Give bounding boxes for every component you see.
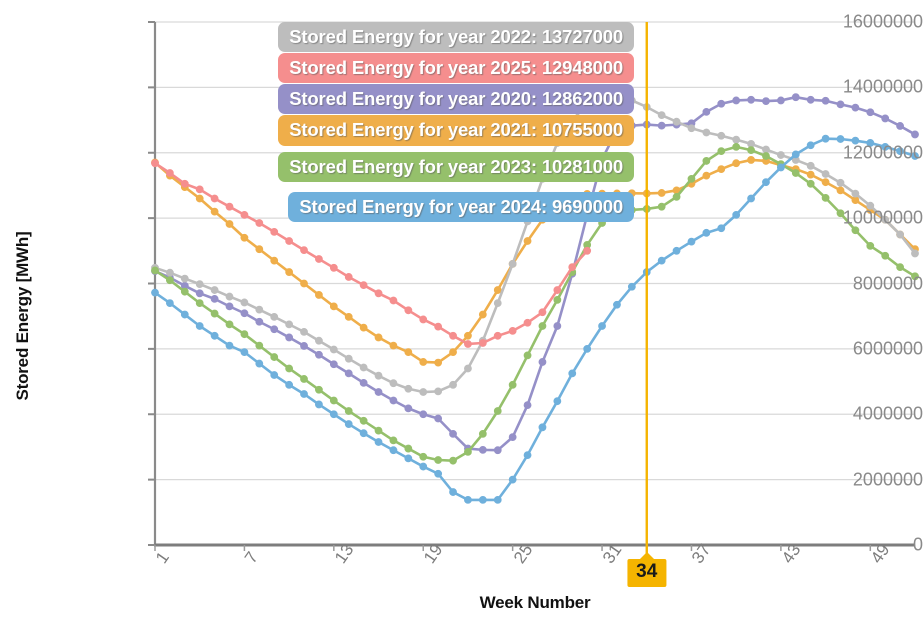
data-point (315, 351, 322, 358)
data-point (688, 175, 695, 182)
data-point (494, 447, 501, 454)
data-point (405, 445, 412, 452)
data-point (584, 345, 591, 352)
x-axis-title: Week Number (155, 593, 915, 613)
data-point (315, 386, 322, 393)
data-point (300, 342, 307, 349)
data-point (584, 247, 591, 254)
data-point (673, 247, 680, 254)
data-point (345, 407, 352, 414)
data-point (822, 170, 829, 177)
data-point (882, 115, 889, 122)
data-point (747, 96, 754, 103)
data-point (256, 246, 263, 253)
data-point (613, 301, 620, 308)
data-point (733, 211, 740, 218)
cursor-week-badge[interactable]: 34 (627, 559, 666, 587)
data-point (181, 288, 188, 295)
data-point (449, 381, 456, 388)
data-point (718, 100, 725, 107)
data-point (271, 353, 278, 360)
data-point (166, 269, 173, 276)
data-point (658, 257, 665, 264)
data-point (449, 430, 456, 437)
data-point (494, 332, 501, 339)
data-point (658, 203, 665, 210)
data-point (360, 282, 367, 289)
data-point (271, 371, 278, 378)
data-point (256, 318, 263, 325)
data-point (226, 293, 233, 300)
data-point (569, 264, 576, 271)
data-point (911, 131, 918, 138)
data-point (882, 252, 889, 259)
data-point (703, 129, 710, 136)
data-point (435, 323, 442, 330)
data-point (673, 193, 680, 200)
data-point (390, 342, 397, 349)
data-point (196, 281, 203, 288)
data-point (271, 257, 278, 264)
data-point (554, 286, 561, 293)
data-point (390, 380, 397, 387)
data-point (658, 122, 665, 129)
tooltip-2025: Stored Energy for year 2025: 12948000 (278, 53, 634, 83)
data-point (286, 381, 293, 388)
data-point (226, 303, 233, 310)
data-point (211, 310, 218, 317)
data-point (390, 447, 397, 454)
data-point (375, 290, 382, 297)
data-point (420, 411, 427, 418)
data-point (539, 424, 546, 431)
data-point (509, 476, 516, 483)
data-point (747, 156, 754, 163)
data-point (747, 147, 754, 154)
tooltip-2024: Stored Energy for year 2024: 9690000 (288, 192, 634, 222)
data-point (241, 310, 248, 317)
data-point (241, 234, 248, 241)
data-point (435, 456, 442, 463)
data-point (479, 311, 486, 318)
data-point (196, 300, 203, 307)
data-point (345, 273, 352, 280)
data-point (330, 397, 337, 404)
data-point (405, 349, 412, 356)
data-point (658, 189, 665, 196)
data-point (181, 275, 188, 282)
data-point (435, 415, 442, 422)
data-point (286, 237, 293, 244)
data-point (703, 108, 710, 115)
data-point (792, 169, 799, 176)
data-point (360, 430, 367, 437)
data-point (479, 430, 486, 437)
data-point (435, 388, 442, 395)
data-point (852, 190, 859, 197)
data-point (390, 397, 397, 404)
data-point (494, 286, 501, 293)
data-point (286, 321, 293, 328)
data-point (479, 446, 486, 453)
y-tick-label: 10000000 (778, 208, 923, 229)
data-point (777, 97, 784, 104)
data-point (271, 228, 278, 235)
data-point (628, 283, 635, 290)
data-point (211, 286, 218, 293)
data-point (822, 179, 829, 186)
data-point (762, 179, 769, 186)
data-point (718, 148, 725, 155)
data-point (330, 361, 337, 368)
data-point (345, 313, 352, 320)
data-point (897, 231, 904, 238)
data-point (300, 280, 307, 287)
data-point (435, 359, 442, 366)
data-point (897, 264, 904, 271)
data-point (330, 303, 337, 310)
data-point (509, 327, 516, 334)
data-point (375, 388, 382, 395)
data-point (762, 98, 769, 105)
data-point (181, 311, 188, 318)
data-point (196, 322, 203, 329)
data-point (822, 97, 829, 104)
data-point (807, 180, 814, 187)
data-point (330, 411, 337, 418)
data-point (405, 385, 412, 392)
data-point (345, 420, 352, 427)
data-point (196, 290, 203, 297)
data-point (166, 277, 173, 284)
data-point (330, 264, 337, 271)
data-point (524, 452, 531, 459)
data-point (718, 132, 725, 139)
data-point (837, 101, 844, 108)
tooltip-2021: Stored Energy for year 2021: 10755000 (278, 115, 634, 145)
data-point (449, 332, 456, 339)
data-point (241, 331, 248, 338)
data-point (524, 319, 531, 326)
data-point (762, 152, 769, 159)
data-point (524, 237, 531, 244)
data-point (166, 300, 173, 307)
data-point (405, 455, 412, 462)
data-point (226, 342, 233, 349)
data-point (315, 337, 322, 344)
data-point (226, 321, 233, 328)
data-point (300, 328, 307, 335)
data-point (852, 104, 859, 111)
data-point (375, 438, 382, 445)
data-point (241, 349, 248, 356)
data-point (733, 97, 740, 104)
data-point (733, 143, 740, 150)
data-point (375, 372, 382, 379)
data-point (464, 340, 471, 347)
y-tick-label: 6000000 (778, 338, 923, 359)
data-point (286, 268, 293, 275)
data-point (330, 346, 337, 353)
data-point (852, 197, 859, 204)
data-point (777, 164, 784, 171)
data-point (435, 470, 442, 477)
data-point (718, 165, 725, 172)
data-point (494, 407, 501, 414)
tooltip-2022: Stored Energy for year 2022: 13727000 (278, 22, 634, 52)
data-point (464, 496, 471, 503)
data-point (911, 250, 918, 257)
data-point (360, 364, 367, 371)
data-point (464, 332, 471, 339)
data-point (733, 136, 740, 143)
data-point (554, 398, 561, 405)
data-point (539, 322, 546, 329)
data-point (375, 427, 382, 434)
data-point (271, 326, 278, 333)
y-tick-label: 4000000 (778, 404, 923, 425)
data-point (211, 332, 218, 339)
data-point (375, 334, 382, 341)
data-point (479, 339, 486, 346)
data-point (762, 146, 769, 153)
y-tick-label: 8000000 (778, 273, 923, 294)
data-point (315, 291, 322, 298)
data-point (494, 300, 501, 307)
data-point (271, 313, 278, 320)
data-point (837, 187, 844, 194)
data-point (449, 457, 456, 464)
data-point (315, 255, 322, 262)
series-tooltip-stack: Stored Energy for year 2022: 13727000Sto… (0, 22, 634, 222)
data-point (360, 417, 367, 424)
data-point (509, 434, 516, 441)
data-point (390, 437, 397, 444)
data-point (718, 225, 725, 232)
data-point (837, 179, 844, 186)
data-point (598, 322, 605, 329)
data-point (658, 112, 665, 119)
data-point (554, 322, 561, 329)
data-point (822, 194, 829, 201)
data-point (420, 316, 427, 323)
data-point (151, 289, 158, 296)
data-point (241, 299, 248, 306)
data-point (524, 352, 531, 359)
data-point (494, 496, 501, 503)
data-point (464, 448, 471, 455)
data-point (509, 381, 516, 388)
data-point (703, 172, 710, 179)
data-point (211, 295, 218, 302)
data-point (345, 370, 352, 377)
data-point (897, 122, 904, 129)
data-point (315, 401, 322, 408)
y-tick-label: 14000000 (778, 77, 923, 98)
data-point (822, 135, 829, 142)
data-point (360, 324, 367, 331)
data-point (390, 297, 397, 304)
data-point (688, 238, 695, 245)
data-point (703, 157, 710, 164)
data-point (479, 496, 486, 503)
y-tick-label: 16000000 (778, 12, 923, 33)
data-point (807, 171, 814, 178)
data-point (286, 365, 293, 372)
data-point (300, 247, 307, 254)
data-point (420, 453, 427, 460)
data-point (151, 267, 158, 274)
data-point (554, 296, 561, 303)
data-point (420, 388, 427, 395)
data-point (524, 402, 531, 409)
data-point (420, 358, 427, 365)
data-point (509, 260, 516, 267)
data-point (286, 334, 293, 341)
data-point (539, 358, 546, 365)
data-point (867, 109, 874, 116)
data-point (300, 375, 307, 382)
data-point (449, 349, 456, 356)
data-point (256, 306, 263, 313)
data-point (256, 360, 263, 367)
data-point (867, 242, 874, 249)
data-point (703, 229, 710, 236)
data-point (420, 463, 427, 470)
data-point (688, 125, 695, 132)
tooltip-2023: Stored Energy for year 2023: 10281000 (278, 152, 634, 182)
data-point (747, 195, 754, 202)
stored-energy-line-chart: Stored Energy [MWh] Week Number 02000000… (0, 0, 923, 632)
data-point (256, 342, 263, 349)
y-tick-label: 2000000 (778, 469, 923, 490)
data-point (300, 390, 307, 397)
data-point (733, 160, 740, 167)
tooltip-2020: Stored Energy for year 2020: 12862000 (278, 84, 634, 114)
data-point (569, 370, 576, 377)
data-point (345, 355, 352, 362)
data-point (673, 118, 680, 125)
data-point (360, 379, 367, 386)
data-point (405, 405, 412, 412)
data-point (405, 307, 412, 314)
data-point (464, 365, 471, 372)
data-point (807, 162, 814, 169)
y-tick-label: 12000000 (778, 142, 923, 163)
data-point (539, 309, 546, 316)
data-point (449, 488, 456, 495)
